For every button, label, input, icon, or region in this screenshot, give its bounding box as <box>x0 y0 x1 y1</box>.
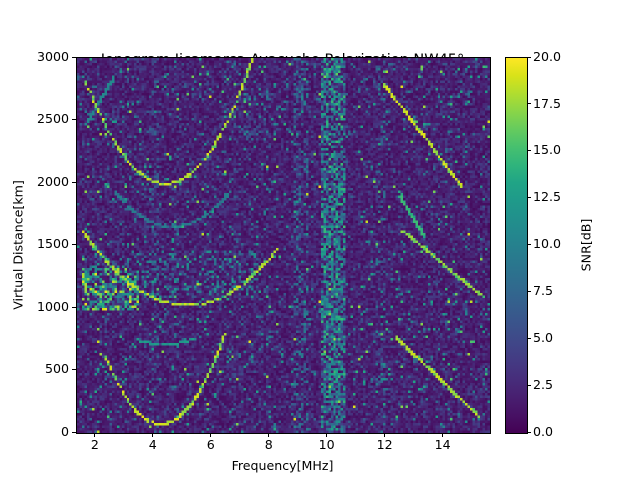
x-tick-label: 6 <box>207 439 215 452</box>
colorbar-tick-label: 5.0 <box>533 332 553 345</box>
colorbar-tick-mark <box>527 432 531 433</box>
colorbar-tick-mark <box>527 57 531 58</box>
colorbar-tick-label: 2.5 <box>533 379 553 392</box>
y-tick-label: 0 <box>61 426 69 439</box>
colorbar-tick-mark <box>527 244 531 245</box>
ionogram-plot-area <box>76 57 491 434</box>
colorbar-tick-label: 0.0 <box>533 426 553 439</box>
y-axis-label: Virtual Distance[km] <box>11 180 26 310</box>
y-tick-mark <box>72 369 76 370</box>
colorbar-tick-mark <box>527 197 531 198</box>
y-tick-mark <box>72 307 76 308</box>
x-tick-label: 14 <box>435 439 451 452</box>
colorbar-tick-mark <box>527 150 531 151</box>
y-tick-mark <box>72 119 76 120</box>
x-tick-label: 8 <box>265 439 273 452</box>
colorbar-tick-mark <box>527 385 531 386</box>
colorbar-tick-label: 20.0 <box>533 51 561 64</box>
x-tick-label: 2 <box>91 439 99 452</box>
colorbar-tick-mark <box>527 291 531 292</box>
colorbar-tick-label: 17.5 <box>533 98 561 111</box>
y-tick-mark <box>72 432 76 433</box>
colorbar-tick-label: 10.0 <box>533 238 561 251</box>
x-tick-label: 12 <box>377 439 393 452</box>
y-tick-mark <box>72 244 76 245</box>
x-axis-label: Frequency[MHz] <box>76 458 489 473</box>
colorbar-label: SNR[dB] <box>579 218 594 271</box>
y-tick-label: 3000 <box>37 51 69 64</box>
colorbar <box>505 57 528 434</box>
colorbar-tick-label: 7.5 <box>533 285 553 298</box>
ionogram-heatmap <box>77 58 490 433</box>
colorbar-tick-mark <box>527 338 531 339</box>
y-tick-label: 1000 <box>37 301 69 314</box>
colorbar-tick-mark <box>527 103 531 104</box>
x-tick-label: 10 <box>319 439 335 452</box>
ionogram-figure: Ionogram Jicamarca-Ayacucho Polarization… <box>0 0 640 480</box>
colorbar-tick-label: 12.5 <box>533 191 561 204</box>
y-tick-label: 2000 <box>37 176 69 189</box>
y-tick-label: 2500 <box>37 113 69 126</box>
y-tick-mark <box>72 182 76 183</box>
y-tick-label: 1500 <box>37 238 69 251</box>
y-tick-mark <box>72 57 76 58</box>
colorbar-tick-label: 15.0 <box>533 144 561 157</box>
colorbar-gradient <box>506 58 527 433</box>
x-tick-label: 4 <box>149 439 157 452</box>
y-tick-label: 500 <box>45 363 69 376</box>
